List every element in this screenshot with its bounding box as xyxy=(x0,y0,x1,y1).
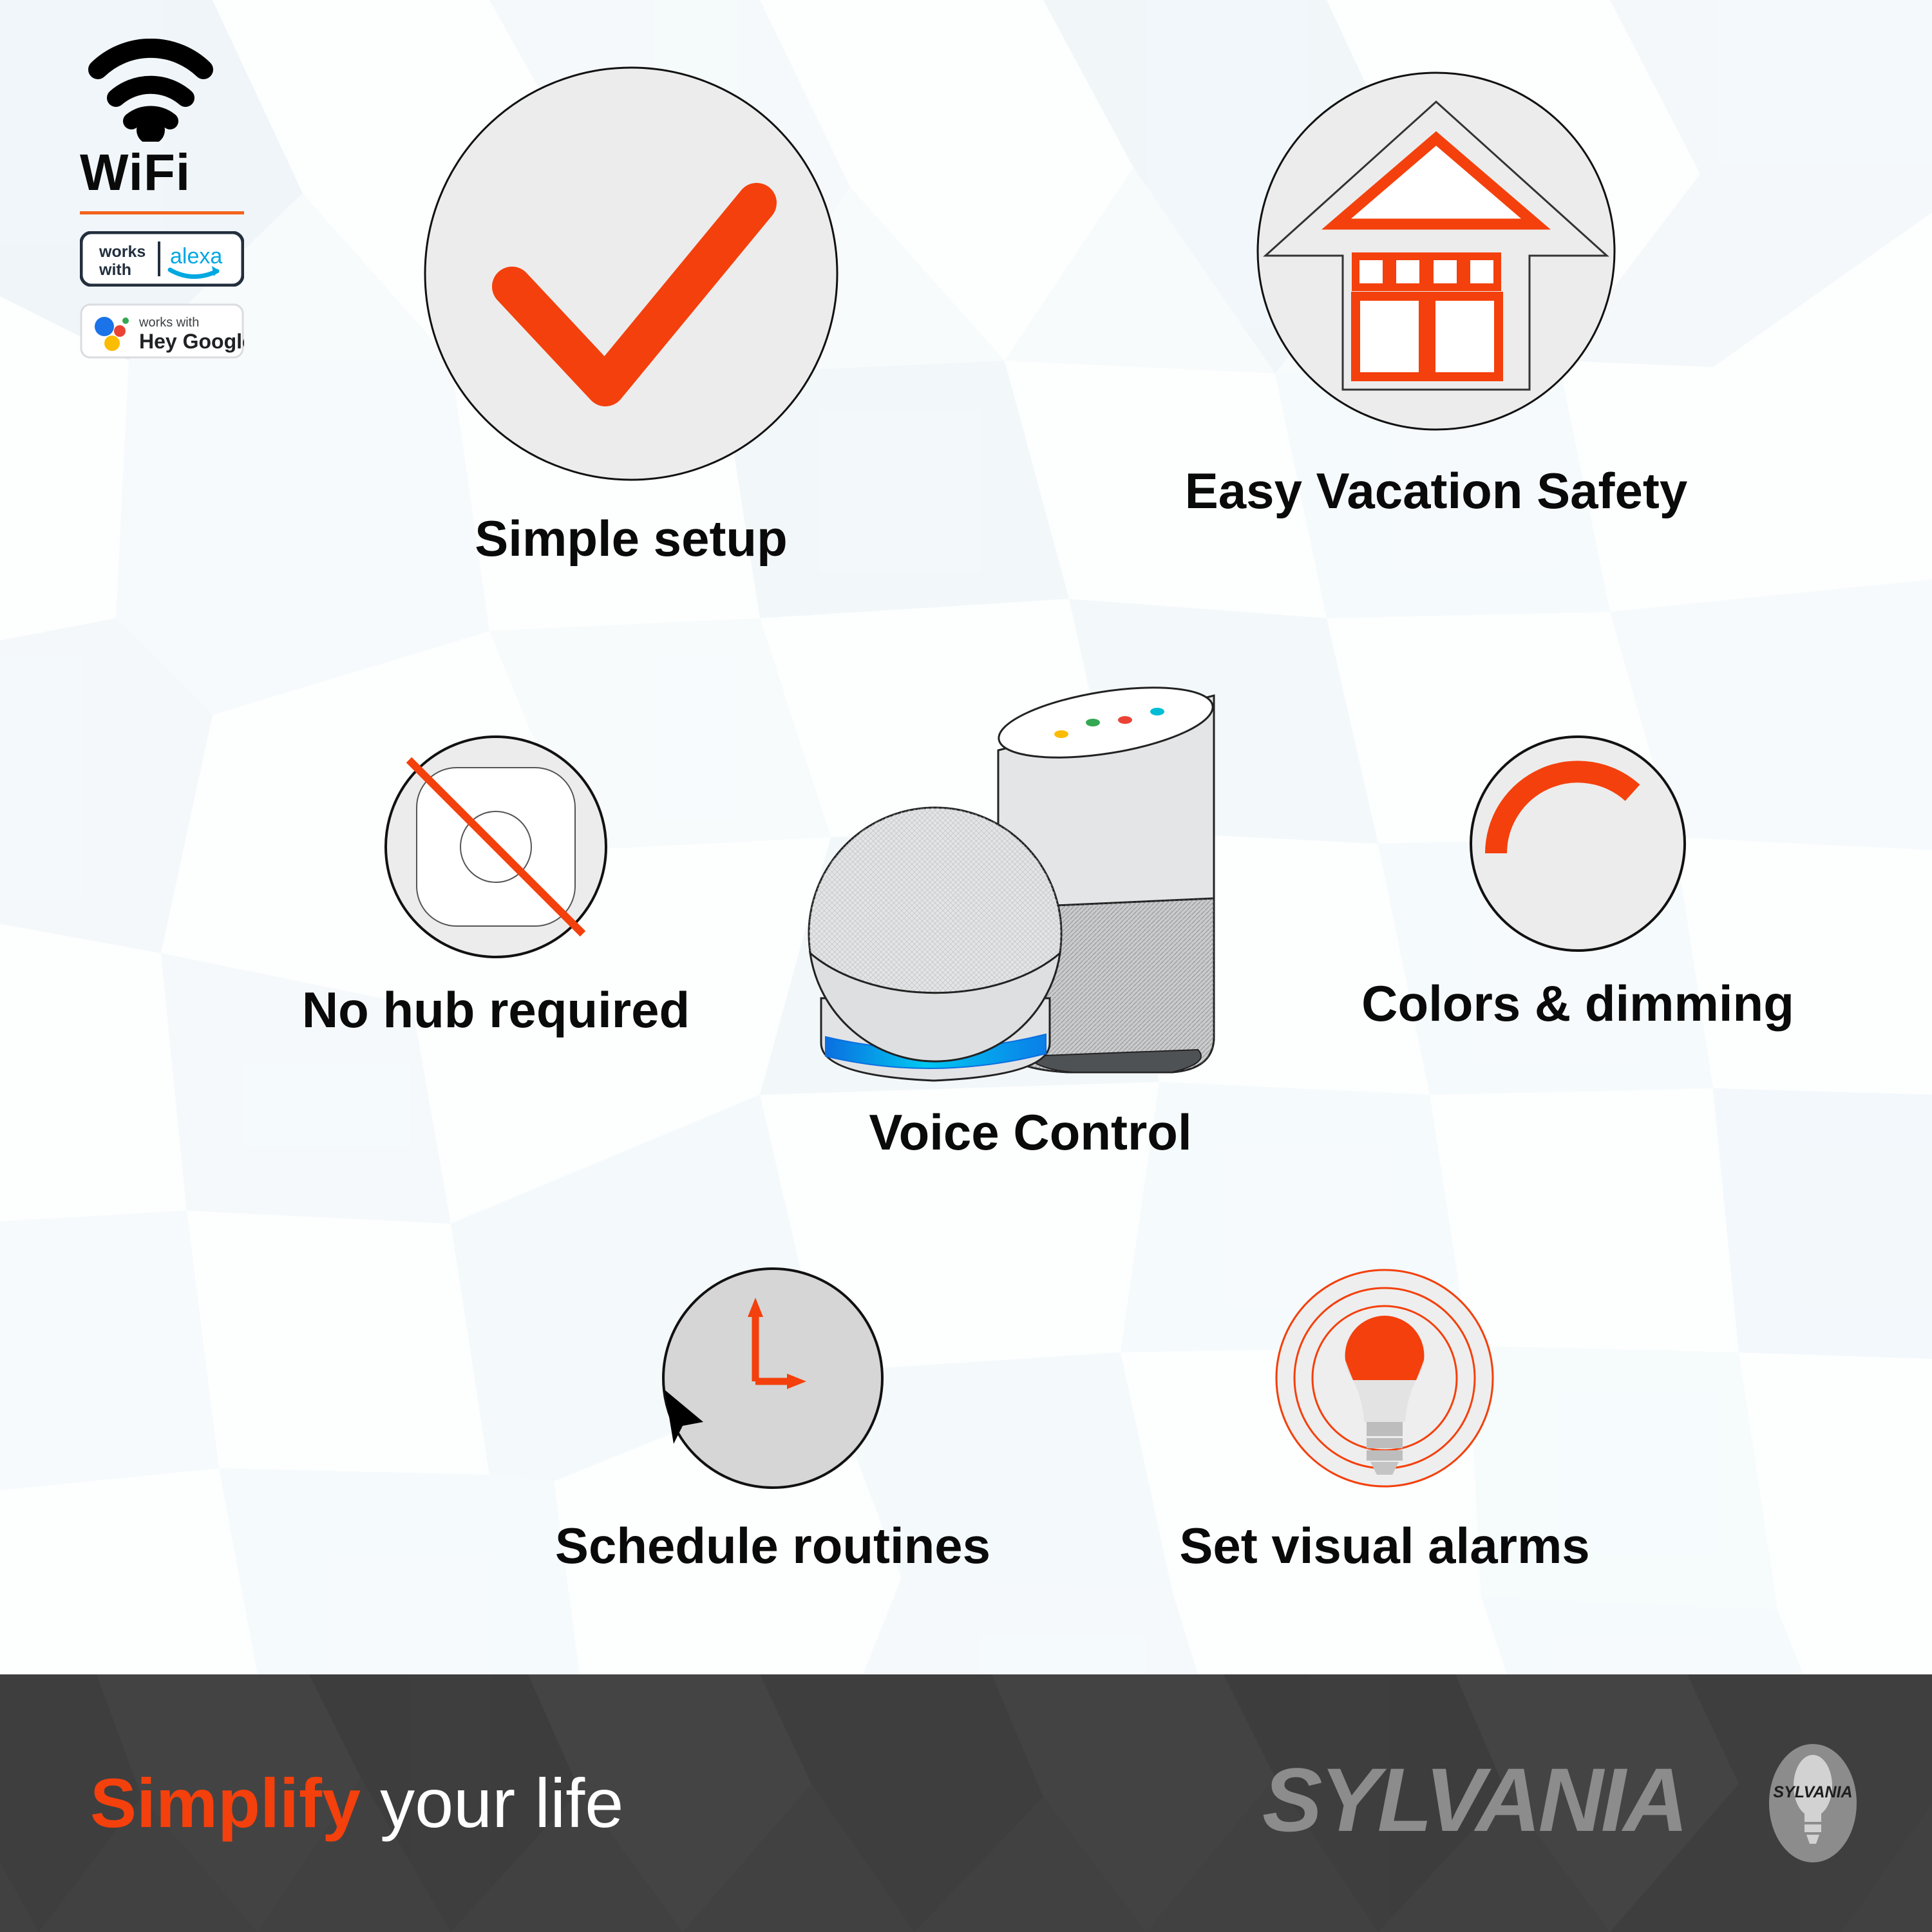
svg-text:SYLVANIA: SYLVANIA xyxy=(1773,1783,1852,1801)
feature-label-schedule-routines: Schedule routines xyxy=(451,1520,1095,1573)
wifi-label: WiFi xyxy=(80,147,259,198)
feature-label-simple-setup: Simple setup xyxy=(361,513,902,565)
footer-bar: Simplify your life SYLVANIA SYLVANIA xyxy=(0,1674,1932,1932)
google-dot-red xyxy=(114,325,126,337)
feature-simple-setup: Simple setup xyxy=(361,64,902,565)
accent-divider xyxy=(80,211,244,214)
feature-label-colors-and-dimming: Colors & dimming xyxy=(1307,978,1848,1030)
echo-dot-speaker xyxy=(809,808,1061,1081)
wifi-icon xyxy=(86,39,215,142)
house-icon xyxy=(1256,71,1616,431)
tagline-rest: your life xyxy=(361,1764,623,1842)
smart-speakers-icon xyxy=(786,676,1275,1088)
footer-tagline: Simplify your life xyxy=(90,1768,623,1838)
assistant-dot-yellow xyxy=(1054,730,1068,738)
sylvania-brand-lockup: SYLVANIA SYLVANIA xyxy=(1262,1742,1874,1864)
dimmer-arc-icon xyxy=(1468,734,1687,953)
alexa-wordmark: alexa xyxy=(170,244,222,269)
connectivity-block: WiFi works with alexa works with Hey Goo… xyxy=(72,39,259,359)
google-dot-blue xyxy=(95,317,114,336)
feature-label-set-visual-alarms: Set visual alarms xyxy=(1063,1520,1707,1573)
feature-label-no-hub-required: No hub required xyxy=(219,984,773,1037)
checkmark-icon xyxy=(422,64,840,483)
svg-text:SYLVANIA: SYLVANIA xyxy=(1262,1755,1686,1850)
assistant-dot-green xyxy=(1086,719,1100,726)
tagline-accent: Simplify xyxy=(90,1764,361,1842)
feature-set-visual-alarms: Set visual alarms xyxy=(1063,1262,1707,1573)
feature-no-hub-required: No hub required xyxy=(219,734,773,1037)
alexa-badge-line2: with xyxy=(99,261,131,279)
works-with-hey-google-badge: works with Hey Google xyxy=(80,303,244,359)
alexa-badge-line1: works xyxy=(99,243,146,261)
assistant-dot-red xyxy=(1118,716,1132,724)
sylvania-wordmark: SYLVANIA xyxy=(1262,1755,1752,1851)
assistant-dot-cyan xyxy=(1150,708,1164,715)
feature-label-voice-control: Voice Control xyxy=(721,1106,1340,1159)
google-dot-yellow xyxy=(104,336,120,351)
feature-voice-control: Voice Control xyxy=(721,676,1340,1159)
sylvania-bulb-emblem: SYLVANIA xyxy=(1752,1742,1874,1864)
feature-label-easy-vacation-safety: Easy Vacation Safety xyxy=(1018,465,1855,518)
feature-easy-vacation-safety: Easy Vacation Safety xyxy=(1018,71,1855,518)
google-badge-line1: works with xyxy=(138,316,199,330)
feature-colors-and-dimming: Colors & dimming xyxy=(1307,734,1848,1030)
works-with-alexa-badge: works with alexa xyxy=(80,231,244,287)
hey-google-wordmark: Hey Google xyxy=(139,330,244,353)
google-dot-green xyxy=(122,317,129,324)
glowing-bulb-icon xyxy=(1269,1262,1501,1494)
clock-cursor-icon xyxy=(657,1262,889,1494)
no-hub-crossed-out-icon xyxy=(383,734,609,960)
feature-schedule-routines: Schedule routines xyxy=(451,1262,1095,1573)
